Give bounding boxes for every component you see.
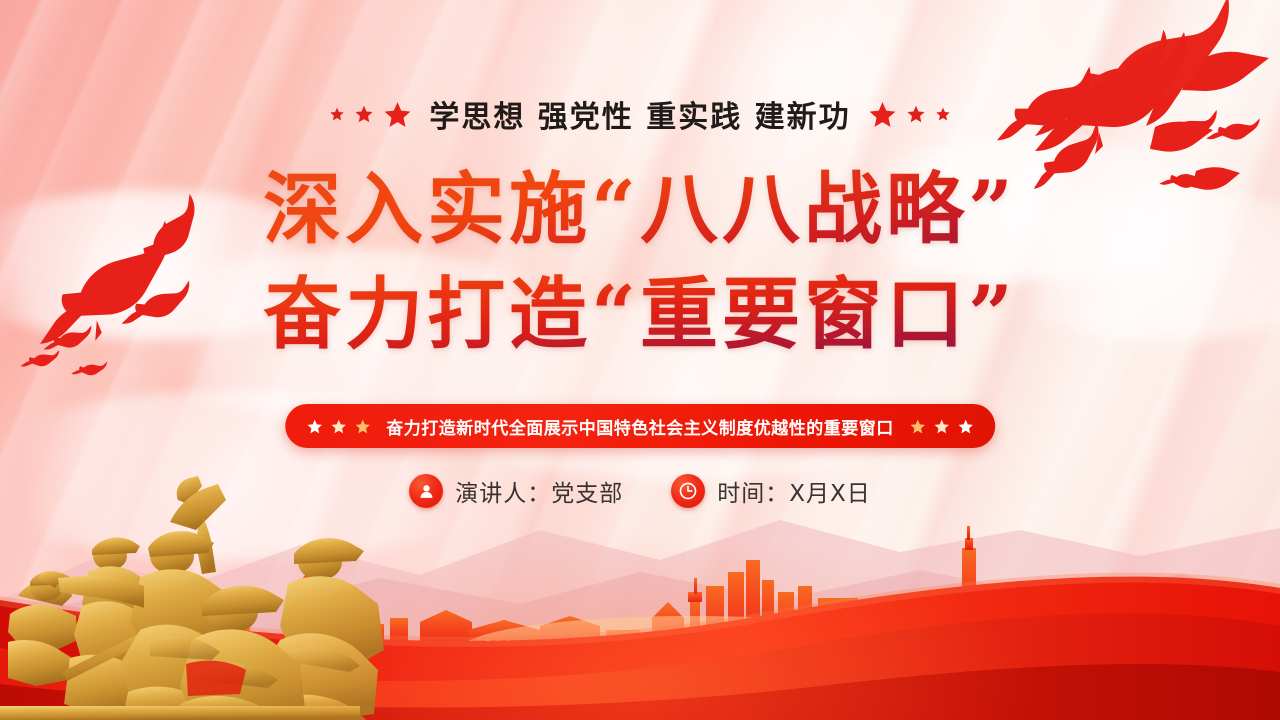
star-icon [907, 105, 925, 123]
slogan-stars-left [330, 101, 411, 128]
slide-canvas: 学思想 强党性 重实践 建新功 深入实施“八八战略” 奋力打造“重要窗口” 奋力… [0, 0, 1280, 720]
meta-row: 演讲人：党支部 时间：X月X日 [0, 474, 1280, 508]
star-icon [355, 105, 373, 123]
time-item: 时间：X月X日 [671, 474, 871, 508]
star-icon [869, 101, 896, 128]
title-line-1: 深入实施“八八战略” [0, 158, 1280, 263]
star-icon [307, 419, 322, 434]
star-icon [355, 419, 370, 434]
slogan-stars-right [869, 101, 950, 128]
clock-icon [671, 474, 705, 508]
clock-icon [678, 481, 698, 501]
star-icon [331, 419, 346, 434]
star-icon [910, 419, 925, 434]
person-icon [409, 474, 443, 508]
subtitle-text: 奋力打造新时代全面展示中国特色社会主义制度优越性的重要窗口 [386, 414, 894, 439]
main-title: 深入实施“八八战略” 奋力打造“重要窗口” [0, 158, 1280, 367]
slogan-text: 学思想 强党性 重实践 建新功 [429, 92, 850, 136]
star-icon [934, 419, 949, 434]
subtitle-stars-right [910, 419, 973, 434]
star-icon [936, 107, 950, 121]
speaker-item: 演讲人：党支部 [409, 474, 623, 508]
title-line-2: 奋力打造“重要窗口” [0, 263, 1280, 368]
star-icon [384, 101, 411, 128]
person-icon [417, 482, 436, 501]
time-label: 时间：X月X日 [717, 474, 871, 508]
subtitle-pill: 奋力打造新时代全面展示中国特色社会主义制度优越性的重要窗口 [285, 404, 995, 448]
subtitle-stars-left [307, 419, 370, 434]
header-slogan: 学思想 强党性 重实践 建新功 [0, 92, 1280, 136]
dove-icon [1087, 0, 1229, 101]
star-icon [330, 107, 344, 121]
speaker-label: 演讲人：党支部 [455, 474, 623, 508]
star-icon [958, 419, 973, 434]
